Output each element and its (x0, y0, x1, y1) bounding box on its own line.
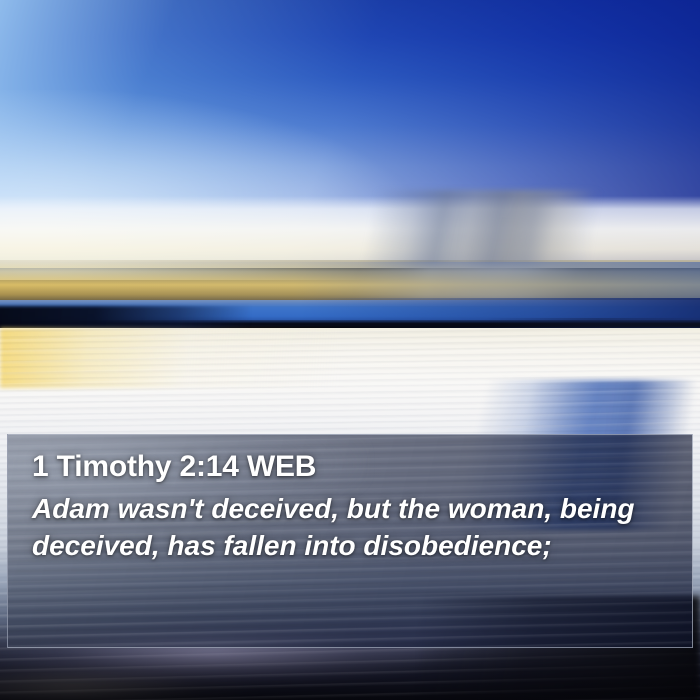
verse-image: 1 Timothy 2:14 WEB Adam wasn't deceived,… (0, 0, 700, 700)
verse-text: Adam wasn't deceived, but the woman, bei… (32, 491, 670, 565)
verse-reference: 1 Timothy 2:14 WEB (32, 449, 670, 484)
verse-content: 1 Timothy 2:14 WEB Adam wasn't deceived,… (32, 449, 670, 565)
verse-overlay-panel: 1 Timothy 2:14 WEB Adam wasn't deceived,… (7, 434, 693, 648)
bottom-vignette (0, 640, 700, 700)
